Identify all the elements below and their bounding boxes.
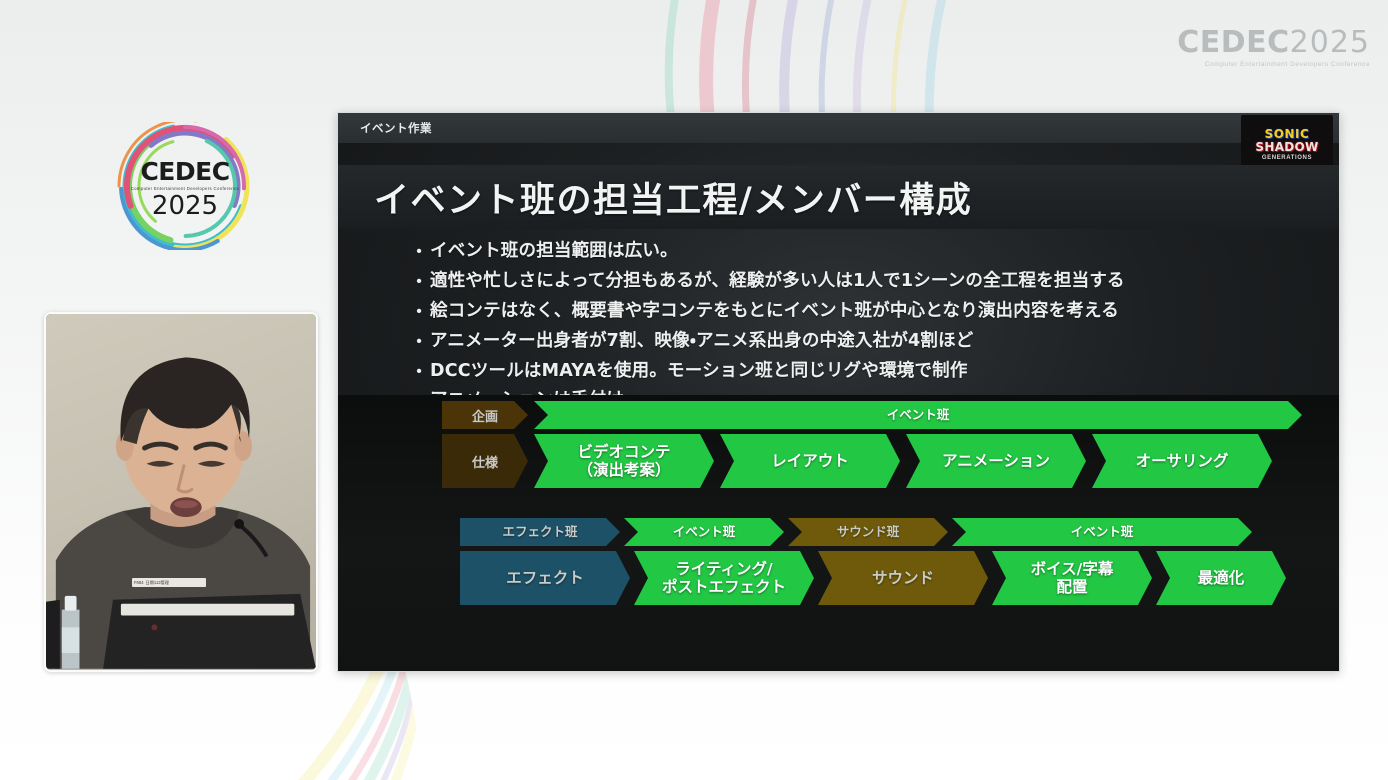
cedec-ring-text: CEDEC Computer Entertainment Developers … <box>103 122 267 250</box>
slide-title: イベント班の担当工程/メンバー構成 <box>374 172 972 223</box>
game-logo-line3: GENERATIONS <box>1262 155 1312 161</box>
bullet-marker-icon: • <box>408 244 430 260</box>
flow-step-アニメーション: アニメーション <box>906 434 1086 488</box>
name-plate-left-text: F684 <box>134 580 144 585</box>
bullet-item: •DCCツールはMAYAを使用。モーション班と同じリグや環境で制作 <box>408 359 1298 385</box>
row-team-lane: エフェクト班イベント班サウンド班イベント班 <box>442 518 1302 546</box>
flow-step-イベント班: イベント班 <box>952 518 1252 546</box>
laptop-name-plate: F684 日期113管理 <box>132 578 206 587</box>
slide-title-band: イベント班の担当工程/メンバー構成 <box>338 165 1339 229</box>
bullet-item: •イベント班の担当範囲は広い。 <box>408 239 1298 265</box>
workflow-rows: 企画イベント班仕様ビデオコンテ（演出考案）レイアウトアニメーションオーサリングエ… <box>442 401 1302 605</box>
bullet-marker-icon: • <box>408 304 430 320</box>
bullet-item: •適性や忙しさによって分担もあるが、経験が多い人は1人で1シーンの全工程を担当す… <box>408 269 1298 295</box>
cedec-logo-name: CEDEC <box>1177 25 1289 60</box>
flow-step-レイアウト: レイアウト <box>720 434 900 488</box>
lane-label-企画: 企画 <box>442 401 528 429</box>
flow-step-オーサリング: オーサリング <box>1092 434 1272 488</box>
flow-step-最適化: 最適化 <box>1156 551 1286 605</box>
flow-step-サウンド班: サウンド班 <box>788 518 948 546</box>
flow-step-ビデオコンテ--演出考案-: ビデオコンテ（演出考案） <box>534 434 714 488</box>
flow-step-サウンド: サウンド <box>818 551 988 605</box>
row-task-stages: エフェクトライティング/ポストエフェクトサウンドボイス/字幕配置最適化 <box>442 551 1302 605</box>
cedec-logo-topright: CEDEC2025 Computer Entertainment Develop… <box>1177 28 1370 68</box>
bullet-marker-icon: • <box>408 364 430 380</box>
flow-step-ボイス-字幕-配置: ボイス/字幕配置 <box>992 551 1152 605</box>
bullet-text: 絵コンテはなく、概要書や字コンテをもとにイベント班が中心となり演出内容を考える <box>430 299 1119 325</box>
speaker-webcam-feed: F684 日期113管理 <box>44 312 318 672</box>
bullet-item: •絵コンテはなく、概要書や字コンテをもとにイベント班が中心となり演出内容を考える <box>408 299 1298 325</box>
slide-header-bar: イベント作業 <box>338 113 1339 143</box>
flow-step-エフェクト班: エフェクト班 <box>460 518 620 546</box>
game-logo-line2: SHADOW <box>1255 141 1318 153</box>
flow-step-ライティング--ポストエフェクト: ライティング/ポストエフェクト <box>634 551 814 605</box>
row-spec-stages: 仕様ビデオコンテ（演出考案）レイアウトアニメーションオーサリング <box>442 434 1302 488</box>
cedec-logo-year: 2025 <box>1290 25 1370 60</box>
flow-row-spacer <box>442 488 1302 518</box>
bullet-text: アニメーター出身者が7割、映像・アニメ系出身の中途入社が4割ほど <box>430 329 974 355</box>
flow-step-イベント班: イベント班 <box>624 518 784 546</box>
bullet-item: •アニメーター出身者が7割、映像・アニメ系出身の中途入社が4割ほど <box>408 329 1298 355</box>
cedec-logo-mark: CEDEC2025 <box>1177 28 1370 58</box>
bullet-text: イベント班の担当範囲は広い。 <box>430 239 678 265</box>
cedec-logo-subtitle: Computer Entertainment Developers Confer… <box>1177 61 1370 68</box>
bullet-text: 適性や忙しさによって分担もあるが、経験が多い人は1人で1シーンの全工程を担当する <box>430 269 1125 295</box>
cedec-ring-logo: CEDEC Computer Entertainment Developers … <box>103 122 267 250</box>
row-planning-lane: 企画イベント班 <box>442 401 1302 429</box>
name-plate-right-text: 日期113管理 <box>146 580 169 586</box>
speaker-portrait <box>46 314 316 669</box>
cedec-ring-name: CEDEC <box>140 159 229 184</box>
flow-step-イベント班: イベント班 <box>534 401 1302 429</box>
bullet-marker-icon: • <box>408 274 430 290</box>
cedec-ring-year: 2025 <box>152 193 218 219</box>
workflow-diagram: 企画イベント班仕様ビデオコンテ（演出考案）レイアウトアニメーションオーサリングエ… <box>338 395 1339 672</box>
bullet-text: DCCツールはMAYAを使用。モーション班と同じリグや環境で制作 <box>430 359 968 385</box>
game-logo-line1: SONIC <box>1265 128 1310 140</box>
slide-bullet-list: •イベント班の担当範囲は広い。•適性や忙しさによって分担もあるが、経験が多い人は… <box>408 239 1298 418</box>
bullet-marker-icon: • <box>408 334 430 350</box>
slide-breadcrumb: イベント作業 <box>360 120 432 136</box>
flow-step-エフェクト: エフェクト <box>460 551 630 605</box>
presentation-slide: イベント作業 SONIC SHADOW GENERATIONS イベント班の担当… <box>337 112 1340 672</box>
lane-label-仕様: 仕様 <box>442 434 528 488</box>
